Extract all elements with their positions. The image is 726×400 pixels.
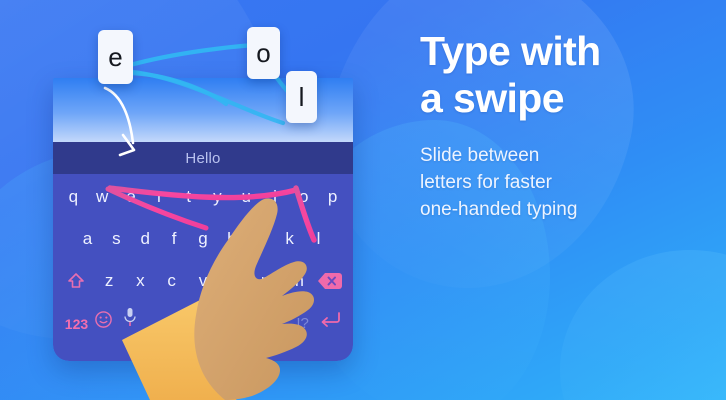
headline: Type with a swipe [420, 28, 710, 121]
microphone-key[interactable] [117, 307, 144, 341]
floating-key-l-label: l [299, 82, 305, 113]
numeric-key[interactable]: 123 [63, 307, 90, 341]
microphone-icon [123, 307, 137, 329]
key-i[interactable]: i [261, 180, 290, 214]
promo-banner: Hello q w e r t y u i o p a s d f g h [0, 0, 726, 400]
floating-key-l[interactable]: l [286, 71, 317, 123]
key-k[interactable]: k [275, 222, 304, 256]
key-m[interactable]: m [281, 264, 312, 298]
key-q[interactable]: q [59, 180, 88, 214]
shift-arrow-icon [66, 271, 86, 291]
headline-line-2: a swipe [420, 75, 710, 122]
keyboard: q w e r t y u i o p a s d f g h j k l [53, 174, 353, 361]
arrow-left-key[interactable]: ‹ [144, 307, 171, 341]
key-e[interactable]: e [117, 180, 146, 214]
background-shape-5 [560, 250, 726, 400]
promo-copy: Type with a swipe Slide between letters … [420, 28, 710, 224]
floating-key-e[interactable]: e [98, 30, 133, 84]
key-j[interactable]: j [246, 222, 275, 256]
floating-key-o[interactable]: o [247, 27, 280, 79]
keyboard-row-4: 123 ‹ [53, 306, 353, 342]
key-v[interactable]: v [187, 264, 218, 298]
key-y[interactable]: y [203, 180, 232, 214]
keyboard-row-1: q w e r t y u i o p [53, 180, 353, 214]
punctuation-key[interactable]: !? [289, 307, 316, 341]
backspace-icon [317, 272, 343, 290]
key-x[interactable]: x [125, 264, 156, 298]
floating-key-e-label: e [108, 42, 122, 73]
emoji-key[interactable] [90, 307, 117, 341]
enter-key[interactable] [316, 307, 343, 341]
key-w[interactable]: w [88, 180, 117, 214]
floating-key-o-label: o [256, 38, 270, 69]
key-t[interactable]: t [174, 180, 203, 214]
key-a[interactable]: a [73, 222, 102, 256]
key-n[interactable]: n [250, 264, 281, 298]
arrow-right-key[interactable]: › [262, 307, 289, 341]
enter-return-icon [318, 311, 342, 329]
suggestion-bar: Hello [53, 142, 353, 174]
headline-line-1: Type with [420, 28, 710, 75]
key-u[interactable]: u [232, 180, 261, 214]
key-o[interactable]: o [289, 180, 318, 214]
backspace-key[interactable] [313, 272, 347, 290]
subtitle-line-1: Slide between [420, 143, 710, 170]
key-s[interactable]: s [102, 222, 131, 256]
shift-key[interactable] [59, 271, 93, 291]
key-c[interactable]: c [156, 264, 187, 298]
key-r[interactable]: r [145, 180, 174, 214]
key-l[interactable]: l [304, 222, 333, 256]
suggestion-word[interactable]: Hello [185, 150, 220, 167]
subtitle-line-2: letters for faster [420, 170, 710, 197]
key-g[interactable]: g [189, 222, 218, 256]
keyboard-row-2: a s d f g h j k l [53, 222, 353, 256]
key-b[interactable]: b [219, 264, 250, 298]
emoji-smiley-icon [94, 310, 113, 329]
key-p[interactable]: p [318, 180, 347, 214]
key-d[interactable]: d [131, 222, 160, 256]
key-f[interactable]: f [160, 222, 189, 256]
subtitle: Slide between letters for faster one-han… [420, 143, 710, 224]
key-h[interactable]: h [217, 222, 246, 256]
key-z[interactable]: z [93, 264, 124, 298]
keyboard-row-3: z x c v b n m [53, 264, 353, 298]
subtitle-line-3: one-handed typing [420, 197, 710, 224]
